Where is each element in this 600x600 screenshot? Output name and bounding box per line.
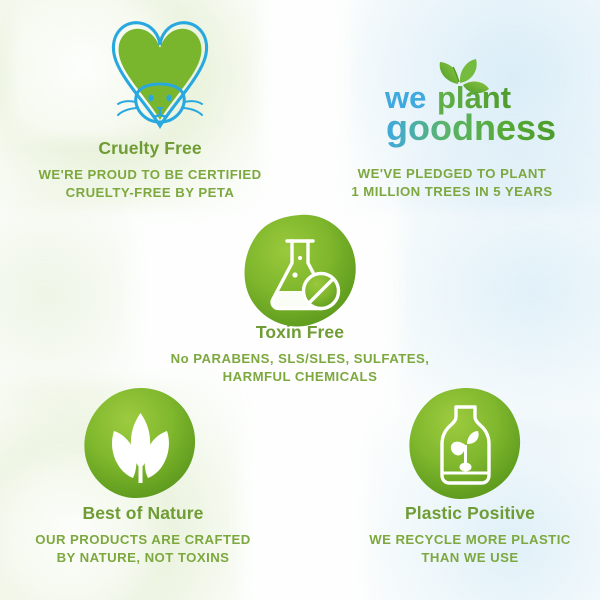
bunny-eye-left: [148, 95, 153, 102]
badge-cruelty-free: Cruelty Free WE'RE PROUD TO BE CERTIFIED…: [0, 138, 300, 202]
prohibition-icon: [302, 272, 340, 310]
badge-body-line: No PARABENS, SLS/SLES, SULFATES,: [150, 350, 450, 368]
flask-no-toxins-icon: [243, 213, 358, 331]
we-plant-goodness-logo: we plant goodness: [383, 58, 558, 148]
badge-body-line: WE'RE PROUD TO BE CERTIFIED: [0, 166, 300, 184]
peta-bunny-heart-logo: [94, 14, 226, 142]
badge-toxin-free: Toxin Free No PARABENS, SLS/SLES, SULFAT…: [150, 322, 450, 386]
badge-plastic-positive: Plastic Positive WE RECYCLE MORE PLASTIC…: [320, 503, 600, 567]
badge-body-line: 1 MILLION TREES IN 5 YEARS: [322, 183, 582, 201]
badge-we-plant-goodness: WE'VE PLEDGED TO PLANT 1 MILLION TREES I…: [322, 165, 582, 201]
badge-body-toxin-free: No PARABENS, SLS/SLES, SULFATES, HARMFUL…: [150, 350, 450, 386]
badge-body-line: CRUELTY-FREE BY PETA: [0, 184, 300, 202]
watercolor-wash-left: [0, 170, 130, 420]
badge-title-plastic-positive: Plastic Positive: [320, 503, 600, 524]
badge-title-toxin-free: Toxin Free: [150, 322, 450, 343]
bottle-sprout-icon: [408, 387, 523, 505]
badge-title-best-of-nature: Best of Nature: [0, 503, 293, 524]
three-leaves-icon: [83, 387, 198, 505]
badge-body-line: WE RECYCLE MORE PLASTIC: [320, 531, 600, 549]
badge-body-cruelty-free: WE'RE PROUD TO BE CERTIFIED CRUELTY-FREE…: [0, 166, 300, 202]
badge-title-cruelty-free: Cruelty Free: [0, 138, 300, 159]
badge-body-line: WE'VE PLEDGED TO PLANT: [322, 165, 582, 183]
logo-word-goodness: goodness: [386, 107, 556, 148]
infographic-canvas: we plant goodness: [0, 0, 600, 600]
badge-body-line: THAN WE USE: [320, 549, 600, 567]
flask-bubble-1: [298, 256, 302, 260]
bunny-eye-right: [166, 95, 171, 102]
badge-body-plastic-positive: WE RECYCLE MORE PLASTIC THAN WE USE: [320, 531, 600, 567]
badge-body-line: BY NATURE, NOT TOXINS: [0, 549, 293, 567]
flask-bubble-2: [292, 272, 297, 277]
bunny-mouth: [152, 111, 169, 116]
badge-body-line: HARMFUL CHEMICALS: [150, 368, 450, 386]
badge-best-of-nature: Best of Nature OUR PRODUCTS ARE CRAFTED …: [0, 503, 293, 567]
badge-body-we-plant-goodness: WE'VE PLEDGED TO PLANT 1 MILLION TREES I…: [322, 165, 582, 201]
badge-body-line: OUR PRODUCTS ARE CRAFTED: [0, 531, 293, 549]
badge-body-best-of-nature: OUR PRODUCTS ARE CRAFTED BY NATURE, NOT …: [0, 531, 293, 567]
